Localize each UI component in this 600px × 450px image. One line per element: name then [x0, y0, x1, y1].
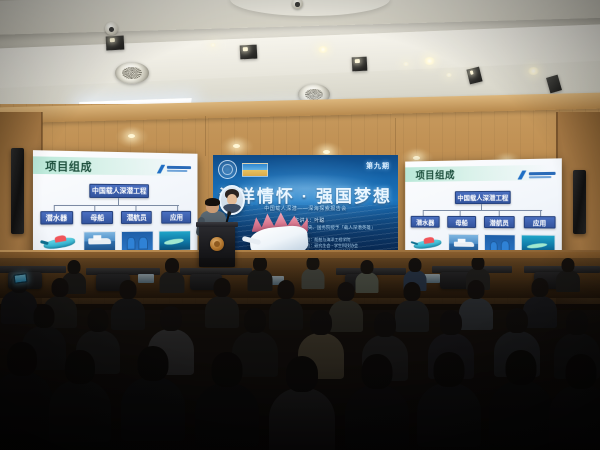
connector: [54, 205, 55, 212]
right-projection-screen[interactable]: 项目组成 中国载人深潜工程 潜水器 母船 潜航员 应用: [405, 158, 562, 263]
connector: [423, 210, 542, 211]
diagram-node-submersible: 潜水器: [411, 216, 439, 228]
diagram-node-mothership: 母船: [447, 216, 476, 228]
ceiling-camera-icon: [105, 22, 118, 35]
wall-downlight-icon: [413, 156, 420, 160]
left-wall-speaker: [11, 148, 24, 234]
diagram-node-pilot: 潜航员: [121, 211, 152, 224]
diagram-node-pilot: 潜航员: [484, 216, 514, 228]
recessed-spotlight-icon: [528, 67, 539, 75]
session-label: 第九期: [366, 161, 390, 171]
university-crest-icon: [210, 237, 224, 251]
wall-downlight-icon: [233, 144, 240, 148]
recessed-spotlight-icon: [403, 62, 409, 66]
diagram-root-node: 中国载人深潜工程: [90, 184, 149, 198]
left-projection-screen[interactable]: 项目组成 中国载人深潜工程 潜水器 母船 潜航员 应用: [33, 150, 198, 262]
university-logo-icon: [157, 165, 192, 174]
wall-downlight-icon: [128, 134, 135, 138]
track-light-icon: [106, 36, 125, 51]
diagram-node-application: 应用: [162, 211, 192, 224]
center-banner-screen[interactable]: 第九期 海洋情怀 · 强国梦想 中国载人深潜——深海探索报告会 主讲人：叶聪 中…: [213, 155, 398, 263]
diagram-node-application: 应用: [524, 216, 555, 229]
diagram-root-node: 中国载人深潜工程: [455, 190, 511, 204]
recessed-spotlight-icon: [210, 43, 216, 47]
lecture-hall-photo: 项目组成 中国载人深潜工程 潜水器 母船 潜航员 应用: [0, 0, 600, 450]
recessed-spotlight-icon: [318, 46, 328, 53]
underwater-application-photo: [158, 230, 191, 252]
right-slide: 项目组成 中国载人深潜工程 潜水器 母船 潜航员 应用: [405, 158, 562, 263]
track-light-icon: [240, 45, 258, 60]
recessed-spotlight-icon: [424, 57, 435, 65]
slide-title: 项目组成: [415, 167, 455, 182]
recessed-spotlight-icon: [446, 73, 452, 77]
wall-downlight-icon: [323, 150, 330, 154]
university-seal-icon: [218, 160, 237, 179]
wall-seam: [395, 118, 396, 156]
right-wall-speaker: [573, 170, 586, 234]
wall-seam: [205, 116, 206, 156]
left-slide: 项目组成 中国载人深潜工程 潜水器 母船 潜航员 应用: [33, 150, 198, 262]
ocean-emblem-icon: [242, 163, 268, 177]
diagram-node-submersible: 潜水器: [40, 211, 73, 224]
connector: [54, 205, 179, 206]
diagram-node-mothership: 母船: [81, 211, 113, 224]
slide-title: 项目组成: [45, 158, 92, 174]
university-logo-icon: [517, 170, 555, 180]
air-vent-icon: [115, 62, 149, 84]
track-light-icon: [352, 57, 368, 72]
audience-shadow-overlay: [0, 258, 600, 450]
connector: [95, 205, 96, 212]
audience-area: [0, 258, 600, 450]
